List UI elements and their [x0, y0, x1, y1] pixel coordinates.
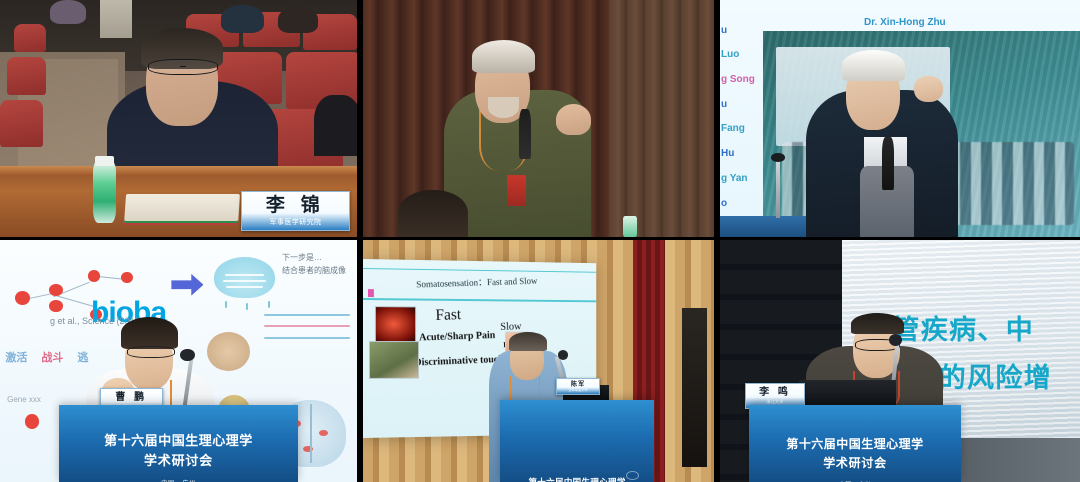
slide-name: o	[721, 199, 767, 209]
wood-wall	[609, 0, 714, 237]
biobank-slide-scene: bioba 下一步是…结合患者的脑成像 g et al., Science (2…	[0, 240, 357, 482]
handheld-microphone	[882, 137, 894, 189]
activation-blob	[319, 430, 328, 436]
slide-cn-labels: 激活 战斗 逃	[5, 349, 88, 365]
microphone-speaker-scene	[363, 0, 714, 237]
slide-column-fast: Fast	[435, 306, 461, 324]
slide-name-list: u Luo g Song u Fang Hu g Yan o	[720, 24, 767, 209]
graph-node	[25, 414, 39, 429]
handheld-microphone	[519, 109, 531, 159]
banner-location: 中国 · 广州	[161, 478, 195, 482]
table-edge	[0, 166, 357, 175]
slide-title: Somatosensation：Fast and Slow	[416, 274, 538, 291]
nameplate-name: 陈军	[571, 382, 585, 388]
cloud-line	[223, 280, 267, 282]
banner-line-2: 学术研讨会	[144, 453, 213, 470]
cn-label: 战斗	[41, 349, 63, 365]
slide-side-note: 下一步是…结合患者的脑成像	[282, 252, 353, 278]
raised-hand	[914, 76, 943, 102]
signal-waveforms	[264, 310, 350, 344]
speaker-hair	[472, 40, 535, 73]
banner-line-1: 第十六届中国生理心理学	[528, 477, 625, 482]
nameplate-org: 军事医学研究院	[270, 219, 322, 226]
graph-node	[88, 270, 100, 281]
cloud-line	[225, 274, 264, 276]
slide-item-discriminative-touch: Discriminative touch	[414, 354, 504, 368]
banner-line-1: 第十六届中国生理心理学	[104, 433, 253, 449]
slide-name: u	[721, 100, 767, 110]
waveform	[264, 337, 350, 339]
cn-label: 逃	[77, 349, 88, 365]
rain-drop	[225, 301, 227, 308]
audience-person	[221, 5, 264, 33]
audience-person	[50, 0, 86, 24]
theater-seat	[14, 24, 46, 52]
water-bottle	[93, 161, 116, 223]
conference-emblem	[626, 471, 639, 480]
cn-label: 激活	[5, 349, 27, 365]
rain-drop	[268, 301, 270, 308]
photo-panel-top-center	[360, 0, 717, 240]
slide-gene-label: Gene xxx	[7, 395, 41, 404]
audience-person	[314, 95, 357, 157]
slide-name: g Yan	[721, 174, 767, 184]
nameplate-name: 李 鸣	[759, 388, 791, 398]
li-ming-podium-scene: 血管疾病、中 痴呆的风险增 李 鸣 浙江大学 第十六届中国生理心理学 学术研讨会…	[720, 240, 1080, 482]
door	[682, 308, 707, 468]
slide-marker	[368, 290, 374, 297]
slide-headline-partial	[842, 2, 1072, 14]
podium-banner: 第十六届中国生理心理学 学术研讨会 中国 · 广州 2023年11月17日-11…	[59, 405, 298, 482]
cloud-icon	[214, 257, 275, 298]
nameplate-chen-jun: 陈军 空军军医大学	[556, 378, 600, 395]
slide-divider	[363, 299, 596, 303]
speaker-hair	[842, 50, 905, 81]
theater-seat	[7, 57, 46, 95]
graph-node	[121, 272, 133, 283]
microphone-head	[558, 350, 569, 360]
microphone-head	[180, 349, 194, 361]
audience-head	[207, 332, 250, 371]
slide-name: u	[721, 26, 767, 36]
eyeglasses-icon	[127, 346, 175, 358]
nameplate-name: 李 锦	[266, 196, 325, 215]
slide-doctor-name: Dr. Xin-Hong Zhu	[864, 17, 1073, 28]
slide-name: Fang	[721, 124, 767, 134]
nameplate-li-jin: 李 锦 军事医学研究院	[241, 191, 350, 231]
speaker-hair	[851, 313, 903, 335]
slide-item-acute-pain: Acute/Sharp Pain	[418, 330, 495, 343]
activation-blob	[303, 446, 312, 452]
podium-banner: 第十六届中国生理心理学 学术研讨会 中国 · 广州 2023年11月17日-11…	[749, 405, 961, 482]
water-bottle	[623, 216, 637, 237]
waveform	[264, 314, 350, 316]
slide-image-pain	[375, 306, 416, 342]
graph-node	[49, 284, 62, 296]
graph-node	[15, 291, 30, 305]
speaker-hair	[509, 332, 548, 351]
graph-node	[49, 300, 62, 312]
foreground-audience-head	[398, 190, 468, 237]
slide-divider	[363, 268, 596, 273]
audience-person	[278, 7, 317, 33]
banner-line-1: 第十六届中国生理心理学	[786, 437, 923, 452]
somatosensation-slide-scene: Somatosensation：Fast and Slow Fast Slow …	[363, 240, 714, 482]
slide-name: Hu	[721, 149, 767, 159]
photo-panel-top-left: 李 锦 军事医学研究院	[0, 0, 360, 240]
gesturing-hand	[556, 104, 591, 135]
slide-name: g Song	[721, 75, 767, 85]
theater-seat	[0, 100, 43, 147]
cloud-line	[226, 286, 262, 288]
photo-panel-bottom-left: bioba 下一步是…结合患者的脑成像 g et al., Science (2…	[0, 240, 360, 482]
waveform	[264, 325, 350, 327]
photo-panel-bottom-right: 血管疾病、中 痴呆的风险增 李 鸣 浙江大学 第十六届中国生理心理学 学术研讨会…	[717, 240, 1080, 482]
gooseneck-microphone	[776, 161, 780, 218]
projection-speaker-scene: Dr. Xin-Hong Zhu u Luo g Song u Fang Hu …	[720, 0, 1080, 237]
open-book	[124, 194, 240, 225]
photo-collage: 李 锦 军事医学研究院 Dr. Xin-Hong Zhu	[0, 0, 1080, 482]
auditorium-scene: 李 锦 军事医学研究院	[0, 0, 357, 237]
photo-panel-bottom-center: Somatosensation：Fast and Slow Fast Slow …	[360, 240, 717, 482]
podium-banner: 第十六届中国生理心理学 学术研讨会 中国 · 广州 2023年11月17日-11…	[500, 400, 654, 482]
photo-panel-top-right: Dr. Xin-Hong Zhu u Luo g Song u Fang Hu …	[717, 0, 1080, 240]
banner-line-2: 学术研讨会	[823, 456, 887, 472]
slide-image-touch	[369, 342, 419, 380]
podium	[720, 216, 806, 237]
conference-badge	[507, 175, 526, 206]
nameplate-name: 曹 鹏	[115, 393, 147, 403]
doorway-light	[100, 0, 132, 38]
speaker-hair	[121, 317, 178, 348]
nameplate-org: 空军军医大学	[569, 389, 588, 392]
eyeglasses-icon	[148, 59, 218, 75]
slide-name: Luo	[721, 50, 767, 60]
bottle-cap	[95, 156, 115, 165]
